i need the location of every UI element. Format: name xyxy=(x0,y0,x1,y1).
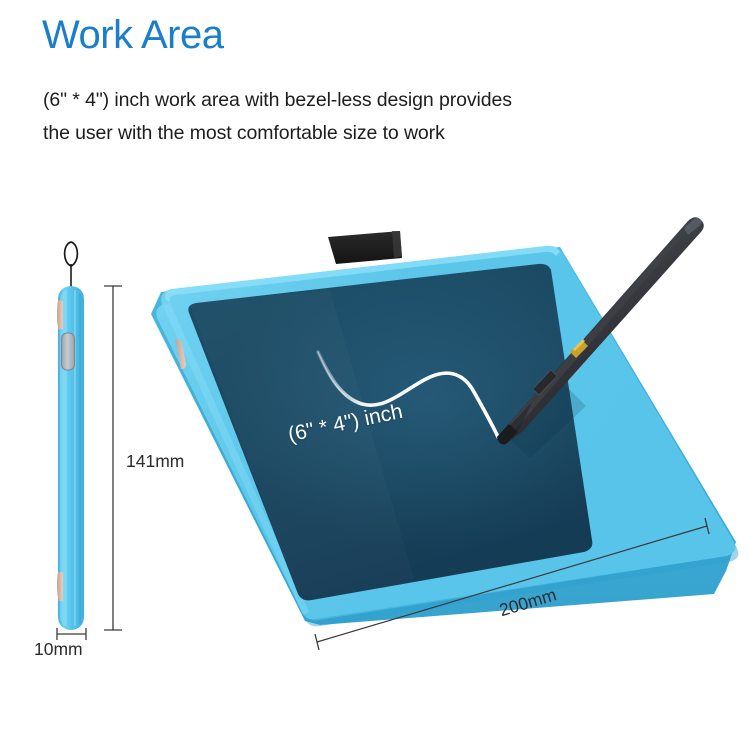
side-pad-bottom xyxy=(57,572,63,601)
thickness-dimension-label: 10mm xyxy=(34,639,83,660)
tablet-front-icon xyxy=(151,231,738,626)
height-dimension-line xyxy=(104,286,122,630)
height-dimension-label: 141mm xyxy=(126,451,184,472)
tablet-top-tab-icon xyxy=(328,231,402,264)
tablet-side-profile-icon xyxy=(57,242,84,630)
side-button-icon[interactable] xyxy=(62,333,75,370)
product-illustration xyxy=(0,0,750,750)
side-pad-top xyxy=(57,300,63,330)
lanyard-loop-icon xyxy=(65,242,78,290)
